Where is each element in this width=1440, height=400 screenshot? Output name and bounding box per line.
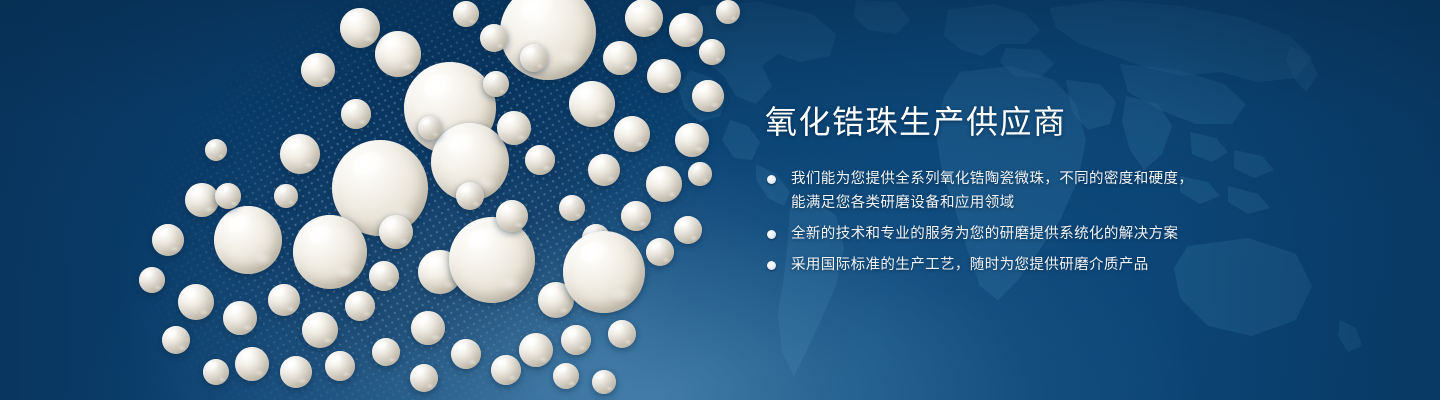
ceramic-bead	[379, 215, 413, 249]
ceramic-bead	[152, 224, 184, 256]
ceramic-bead	[614, 116, 650, 152]
ceramic-bead	[162, 326, 190, 354]
bullet-text-line: 采用国际标准的生产工艺，随时为您提供研磨介质产品	[791, 253, 1365, 277]
ceramic-bead	[268, 284, 300, 316]
ceramic-bead	[375, 31, 421, 77]
ceramic-bead	[449, 217, 535, 303]
ceramic-bead	[688, 162, 712, 186]
ceramic-bead	[280, 356, 312, 388]
ceramic-bead	[185, 183, 219, 217]
ceramic-bead	[553, 363, 579, 389]
ceramic-bead	[203, 359, 229, 385]
ceramic-bead	[625, 0, 663, 37]
ceramic-bead	[675, 123, 709, 157]
ceramic-bead	[341, 99, 371, 129]
ceramic-bead	[451, 339, 481, 369]
ceramic-bead	[205, 139, 227, 161]
ceramic-bead	[497, 111, 531, 145]
ceramic-bead	[716, 0, 740, 24]
ceramic-bead	[520, 44, 548, 72]
bullet-text-line: 我们能为您提供全系列氧化锆陶瓷微珠，不同的密度和硬度，	[791, 167, 1365, 191]
ceramic-bead	[646, 166, 682, 202]
ceramic-bead	[692, 80, 724, 112]
ceramic-bead	[223, 301, 257, 335]
ceramic-bead	[235, 347, 269, 381]
ceramic-bead	[621, 201, 651, 231]
ceramic-bead	[699, 39, 725, 65]
feature-bullet-item: 全新的技术和专业的服务为您的研磨提供系统化的解决方案	[765, 222, 1365, 246]
ceramic-bead	[500, 0, 596, 80]
ceramic-bead	[603, 41, 637, 75]
ceramic-bead	[647, 59, 681, 93]
ceramic-bead	[139, 267, 165, 293]
ceramic-bead	[519, 333, 553, 367]
ceramic-bead	[563, 231, 645, 313]
ceramic-bead	[491, 355, 521, 385]
ceramic-bead	[674, 216, 702, 244]
hero-banner: 氧化锆珠生产供应商 我们能为您提供全系列氧化锆陶瓷微珠，不同的密度和硬度，能满足…	[0, 0, 1440, 400]
feature-bullet-item: 采用国际标准的生产工艺，随时为您提供研磨介质产品	[765, 253, 1365, 277]
ceramic-bead	[178, 284, 214, 320]
ceramic-bead	[293, 215, 367, 289]
ceramic-bead	[369, 261, 399, 291]
ceramic-bead	[588, 154, 620, 186]
feature-bullet-list: 我们能为您提供全系列氧化锆陶瓷微珠，不同的密度和硬度，能满足您各类研磨设备和应用…	[765, 167, 1365, 277]
ceramic-bead	[418, 116, 442, 140]
banner-content: 氧化锆珠生产供应商 我们能为您提供全系列氧化锆陶瓷微珠，不同的密度和硬度，能满足…	[765, 104, 1365, 277]
bullet-text-line: 能满足您各类研磨设备和应用领域	[791, 191, 1365, 215]
ceramic-bead	[345, 291, 375, 321]
ceramic-bead	[372, 338, 400, 366]
ceramic-bead	[646, 238, 674, 266]
ceramic-bead	[215, 183, 241, 209]
ceramic-bead	[274, 184, 298, 208]
ceramic-bead	[569, 81, 615, 127]
ceramic-bead	[456, 182, 484, 210]
bullet-dot-icon	[767, 261, 776, 270]
ceramic-bead	[559, 195, 585, 221]
ceramic-bead	[214, 206, 282, 274]
ceramic-bead	[325, 351, 355, 381]
ceramic-bead	[411, 311, 445, 345]
ceramic-bead	[561, 325, 591, 355]
feature-bullet-item: 我们能为您提供全系列氧化锆陶瓷微珠，不同的密度和硬度，能满足您各类研磨设备和应用…	[765, 167, 1365, 215]
ceramic-bead	[592, 370, 616, 394]
ceramic-bead	[280, 134, 320, 174]
ceramic-bead	[483, 71, 509, 97]
ceramic-bead	[480, 24, 508, 52]
ceramic-bead	[340, 8, 380, 48]
bullet-text-line: 全新的技术和专业的服务为您的研磨提供系统化的解决方案	[791, 222, 1365, 246]
ceramic-bead	[453, 1, 479, 27]
ceramic-bead	[496, 200, 528, 232]
ceramic-bead	[608, 320, 636, 348]
ceramic-bead	[410, 364, 438, 392]
bullet-dot-icon	[767, 230, 776, 239]
ceramic-bead	[525, 145, 555, 175]
ceramic-bead	[302, 312, 338, 348]
ceramic-bead	[301, 53, 335, 87]
ceramic-bead	[669, 13, 703, 47]
page-title: 氧化锆珠生产供应商	[765, 104, 1365, 141]
bullet-dot-icon	[767, 175, 776, 184]
